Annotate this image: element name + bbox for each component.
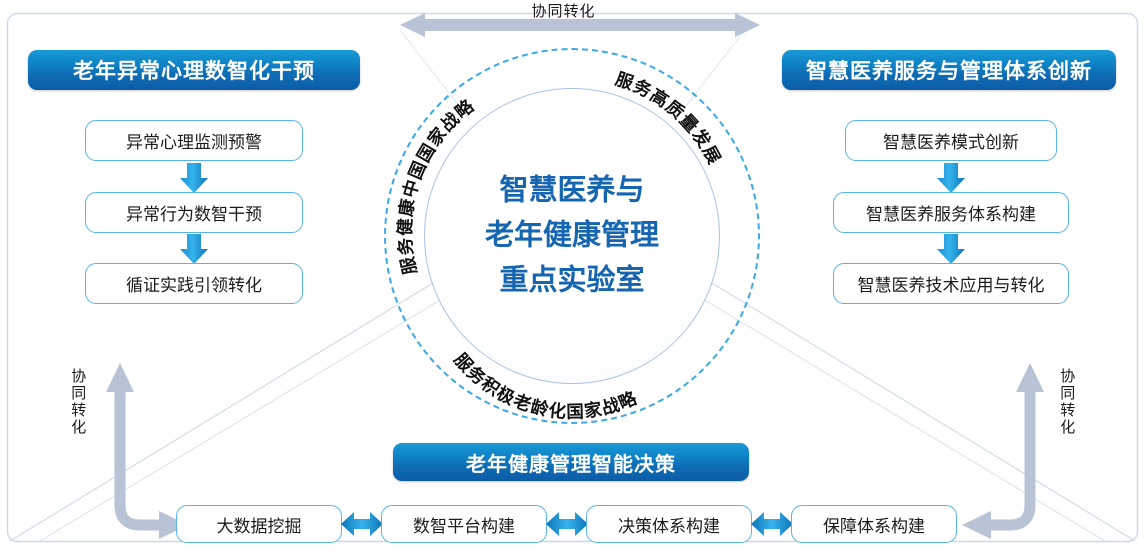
top-connector-label: 协同转化 [0,0,1145,21]
bottom-step-4[interactable]: 保障体系构建 [791,505,957,543]
right-step-2[interactable]: 智慧医养服务体系构建 [833,192,1069,233]
ring-label-upper-right: 服务高质量发展 [613,69,725,169]
right-step-3[interactable]: 智慧医养技术应用与转化 [833,263,1069,304]
ring-label-bottom: 服务积极老龄化国家战略 [450,349,640,422]
ring-label-upper-left: 服务健康中国国家战略 [395,95,479,276]
left-step-3[interactable]: 循证实践引领转化 [85,263,303,304]
diagram-canvas: 协同转化 协同转化 协同转化 服务健康中国国家战略 服务高质量发展 服务积极老龄… [0,0,1145,554]
central-circle: 服务健康中国国家战略 服务高质量发展 服务积极老龄化国家战略 智慧医养与 老年健… [384,48,760,424]
center-title-line1: 智慧医养与 [485,169,659,214]
right-step-1[interactable]: 智慧医养模式创新 [845,120,1057,161]
center-title-line3: 重点实验室 [485,258,659,303]
bottom-arrow-lr-1 [340,509,384,539]
left-arrow-down-2 [177,232,211,266]
panel-header-bottom[interactable]: 老年健康管理智能决策 [393,443,749,481]
bottom-arrow-lr-3 [750,509,794,539]
panel-header-right[interactable]: 智慧医养服务与管理体系创新 [782,50,1116,90]
left-step-2[interactable]: 异常行为数智干预 [85,192,303,233]
right-connector-label: 协同转化 [1057,368,1076,436]
bottom-step-3[interactable]: 决策体系构建 [586,505,752,543]
panel-header-left[interactable]: 老年异常心理数智化干预 [28,50,360,90]
left-connector-label: 协同转化 [68,368,87,436]
top-connector-label-text: 协同转化 [531,3,595,20]
bottom-arrow-lr-2 [545,509,589,539]
right-arrow-down-1 [934,161,968,195]
center-title-line2: 老年健康管理 [485,214,659,259]
left-step-1[interactable]: 异常心理监测预警 [85,120,303,161]
left-arrow-down-1 [177,161,211,195]
right-arrow-down-2 [934,232,968,266]
bottom-step-2[interactable]: 数智平台构建 [381,505,547,543]
bottom-step-1[interactable]: 大数据挖掘 [176,505,342,543]
right-hook-arrow [962,363,1044,539]
center-title: 智慧医养与 老年健康管理 重点实验室 [485,169,659,304]
